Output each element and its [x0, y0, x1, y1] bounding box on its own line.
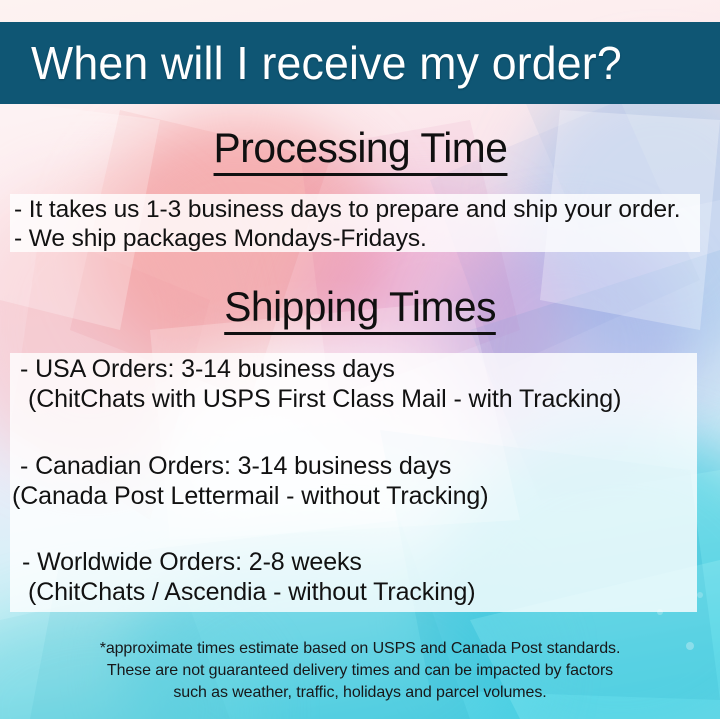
section-heading-processing-time: Processing Time: [0, 124, 720, 176]
shipping-entry-worldwide-detail: (ChitChats / Ascendia - without Tracking…: [28, 578, 475, 607]
shipping-entry-canada-detail: (Canada Post Lettermail - without Tracki…: [12, 482, 488, 511]
header-band: When will I receive my order?: [0, 22, 720, 104]
page-title: When will I receive my order?: [0, 36, 622, 90]
processing-time-line-1: - It takes us 1-3 business days to prepa…: [14, 196, 680, 224]
shipping-entry-usa-title: - USA Orders: 3-14 business days: [20, 355, 395, 384]
processing-time-line-2: - We ship packages Mondays-Fridays.: [14, 225, 427, 253]
section-heading-shipping-times: Shipping Times: [0, 283, 720, 335]
section-heading-processing-time-label: Processing Time: [213, 124, 507, 176]
shipping-entry-usa-detail: (ChitChats with USPS First Class Mail - …: [28, 385, 621, 414]
shipping-entry-canada-title: - Canadian Orders: 3-14 business days: [20, 452, 451, 481]
footer-disclaimer-line-3: such as weather, traffic, holidays and p…: [0, 682, 720, 704]
footer-disclaimer-line-2: These are not guaranteed delivery times …: [0, 660, 720, 682]
poster-canvas: When will I receive my order? Processing…: [0, 0, 720, 719]
footer-disclaimer-line-1: *approximate times estimate based on USP…: [0, 638, 720, 660]
footer-disclaimer: *approximate times estimate based on USP…: [0, 638, 720, 704]
section-heading-shipping-times-label: Shipping Times: [224, 283, 496, 335]
shipping-entry-worldwide-title: - Worldwide Orders: 2-8 weeks: [22, 548, 362, 577]
